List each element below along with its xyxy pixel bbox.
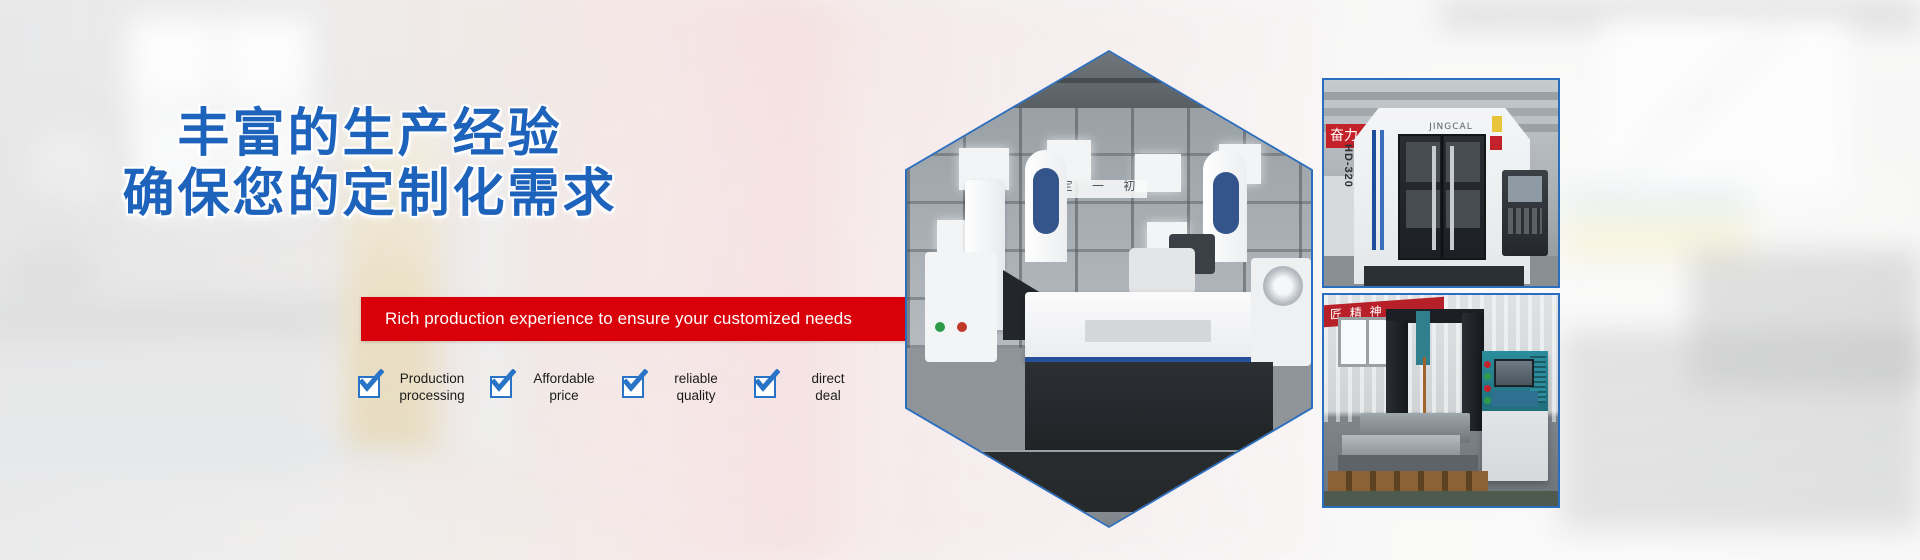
thumb1-door-glass [1446, 142, 1480, 182]
checkbox-checked-icon [490, 376, 512, 398]
thumb1-blue-stripe [1372, 130, 1376, 250]
feature-label-line-2: price [549, 388, 578, 403]
checkbox-checked-icon [754, 376, 776, 398]
feature-list: Production processing Affordable price [358, 370, 886, 404]
thumb1-warning-sticker [1492, 116, 1502, 132]
hero-banner: 丰富的生产经验 确保您的定制化需求 Rich production experi… [0, 0, 1920, 560]
checkbox-checked-icon [622, 376, 644, 398]
feature-label-line-2: deal [815, 388, 841, 403]
thumb1-control-keypad [1508, 208, 1542, 234]
thumb1-brand-label: JINGCAL [1416, 122, 1486, 133]
photo-reel [1263, 266, 1303, 306]
feature-item-production-processing[interactable]: Production processing [358, 370, 490, 404]
feature-label-line-2: quality [676, 388, 715, 403]
thumb2-floor [1324, 491, 1558, 508]
feature-label-line-1: reliable [674, 371, 718, 386]
photo-bed-slot [1085, 320, 1211, 342]
feature-label-line-1: direct [811, 371, 844, 386]
thumb2-control-screen [1494, 359, 1534, 387]
feature-label-line-1: Production [400, 371, 465, 386]
feature-item-direct-deal[interactable]: direct deal [754, 370, 886, 404]
photo-left-unit [925, 252, 997, 362]
subtitle-bar: Rich production experience to ensure you… [361, 297, 905, 341]
feature-label: direct deal [785, 370, 871, 404]
feature-label-line-1: Affordable [533, 371, 594, 386]
feature-label-line-2: processing [399, 388, 464, 403]
thumb1-control-screen [1508, 176, 1542, 202]
checkbox-checked-icon [358, 376, 380, 398]
thumbnail-gantry-edm[interactable] [1322, 293, 1560, 508]
feature-label: reliable quality [653, 370, 739, 404]
feature-item-reliable-quality[interactable]: reliable quality [622, 370, 754, 404]
feature-item-affordable-price[interactable]: Affordable price [490, 370, 622, 404]
headline-line-2: 确保您的定制化需求 [0, 164, 740, 224]
photo-wrapped-parts [1129, 248, 1195, 294]
thumb1-model-label: HD-320 [1338, 144, 1354, 204]
copy-block: 丰富的生产经验 确保您的定制化需求 Rich production experi… [0, 0, 940, 560]
headline-line-1: 丰富的生产经验 [177, 103, 562, 164]
thumb2-control-panel [1492, 391, 1538, 407]
thumb2-indicator-buttons [1484, 361, 1491, 368]
photo-machine-column-middle [1025, 150, 1067, 262]
thumb1-door-handle [1432, 146, 1436, 250]
feature-label: Production processing [389, 370, 475, 404]
thumb1-ceiling-beams [1324, 92, 1558, 100]
thumbnail-hd320[interactable]: JINGCAL HD-320 [1322, 78, 1560, 288]
feature-label: Affordable price [521, 370, 607, 404]
page-title: 丰富的生产经验 确保您的定制化需求 [0, 104, 740, 224]
thumb1-machine-plinth [1364, 266, 1524, 288]
thumb1-emergency-sticker [1490, 136, 1502, 150]
thumb1-door-glass [1446, 190, 1480, 228]
photo-wall-banner [1057, 180, 1147, 198]
subtitle-bar-text: Rich production experience to ensure you… [361, 297, 905, 341]
